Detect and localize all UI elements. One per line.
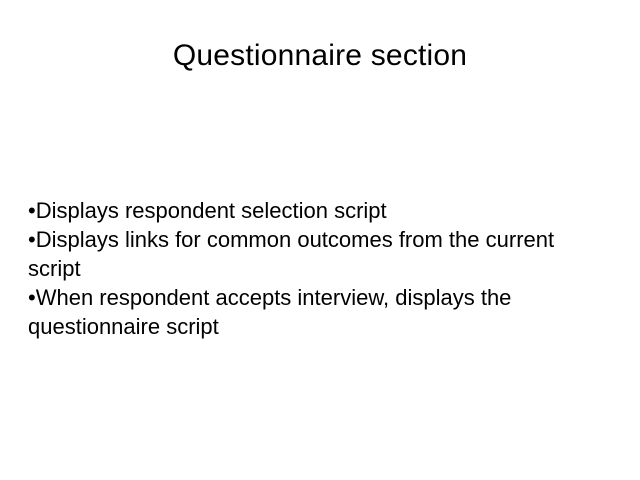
list-item: •Displays respondent selection script	[28, 196, 608, 225]
bullet-point-icon: •	[28, 227, 36, 252]
list-item-label: Displays links for common outcomes from …	[28, 227, 554, 281]
list-item: •Displays links for common outcomes from…	[28, 225, 608, 283]
slide-canvas: Questionnaire section •Displays responde…	[0, 0, 640, 480]
list-item-label: When respondent accepts interview, displ…	[28, 285, 511, 339]
page-title: Questionnaire section	[0, 38, 640, 74]
bullet-point-icon: •	[28, 285, 36, 310]
bullet-list: •Displays respondent selection script •D…	[28, 196, 608, 341]
list-item-label: Displays respondent selection script	[36, 198, 387, 223]
list-item: •When respondent accepts interview, disp…	[28, 283, 608, 341]
bullet-point-icon: •	[28, 198, 36, 223]
